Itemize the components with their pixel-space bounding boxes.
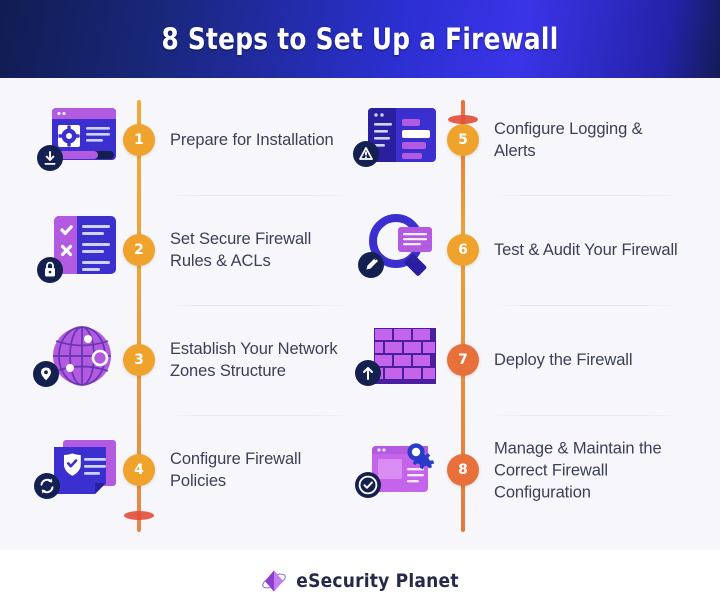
- magnifier-document-pencil-icon: [352, 208, 444, 290]
- step-label: Set Secure Firewall Rules & ACLs: [170, 229, 355, 273]
- footer-brand-bar: eSecurity Planet: [0, 550, 720, 612]
- step-number-badge: 7: [447, 344, 479, 376]
- step-item[interactable]: 7 Deploy the Firewall: [332, 306, 678, 416]
- step-number-badge: 5: [447, 124, 479, 156]
- globe-network-pin-icon: [32, 318, 124, 400]
- step-label: Establish Your Network Zones Structure: [170, 339, 355, 383]
- step-item[interactable]: 4 Configure Firewall Policies: [14, 416, 360, 526]
- infographic-root: 8 Steps to Set Up a Firewall: [0, 0, 720, 612]
- step-label: Configure Logging & Alerts: [494, 119, 684, 163]
- step-item[interactable]: 2 Set Secure Firewall Rules & ACLs: [14, 196, 360, 306]
- step-number-badge: 3: [123, 344, 155, 376]
- browser-gear-download-icon: [32, 98, 124, 180]
- steps-board: 1 Prepare for Installation: [0, 78, 720, 550]
- step-label: Test & Audit Your Firewall: [494, 240, 684, 262]
- brick-wall-upload-icon: [352, 318, 444, 400]
- step-item[interactable]: 3 Establish Your Network Zones Structure: [14, 306, 360, 416]
- step-number-badge: 1: [123, 124, 155, 156]
- step-number-badge: 2: [123, 234, 155, 266]
- step-item[interactable]: 5 Configure Logging & Alerts: [332, 86, 678, 196]
- step-label: Manage & Maintain the Correct Firewall C…: [494, 438, 684, 503]
- step-number-badge: 8: [447, 454, 479, 486]
- dashboard-logs-warning-icon: [352, 98, 444, 180]
- step-number-badge: 4: [123, 454, 155, 486]
- step-item[interactable]: 8 Manage & Maintain the Correct Firewall…: [332, 416, 678, 526]
- checklist-lock-icon: [32, 208, 124, 290]
- step-label: Deploy the Firewall: [494, 350, 684, 372]
- step-item[interactable]: 1 Prepare for Installation: [14, 86, 360, 196]
- window-gear-check-icon: [352, 428, 444, 510]
- footer-brand-name: eSecurity Planet: [296, 570, 458, 592]
- step-label: Prepare for Installation: [170, 130, 355, 152]
- document-shield-refresh-icon: [32, 428, 124, 510]
- step-label: Configure Firewall Policies: [170, 449, 355, 493]
- right-column: 5 Configure Logging & Alerts: [332, 78, 678, 550]
- page-title: 8 Steps to Set Up a Firewall: [161, 22, 558, 56]
- step-item[interactable]: 6 Test & Audit Your Firewall: [332, 196, 678, 306]
- step-number-badge: 6: [447, 234, 479, 266]
- header-banner: 8 Steps to Set Up a Firewall: [0, 0, 720, 78]
- left-column: 1 Prepare for Installation: [14, 78, 360, 550]
- planet-diamond-logo: [261, 568, 287, 594]
